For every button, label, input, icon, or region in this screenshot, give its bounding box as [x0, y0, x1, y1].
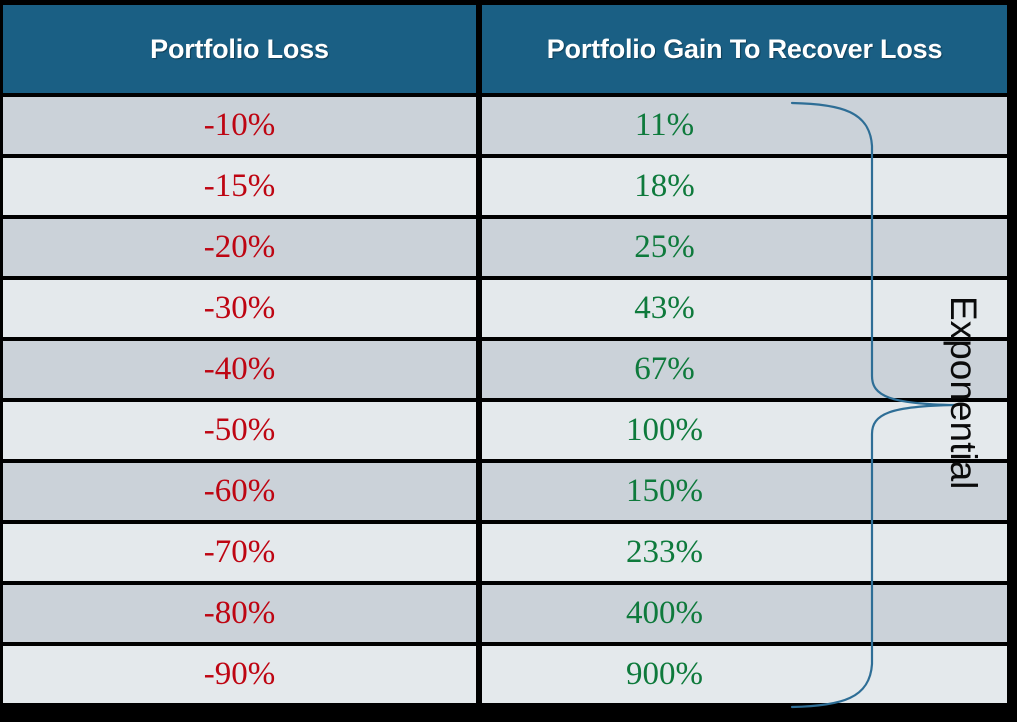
portfolio-loss-value: -40%: [204, 351, 275, 388]
cell-portfolio-gain: 25%: [482, 219, 1007, 276]
table-row: -15%18%: [3, 158, 1007, 215]
portfolio-gain-value: 233%: [626, 534, 703, 571]
portfolio-gain-value: 100%: [626, 412, 703, 449]
table-row: -40%67%: [3, 341, 1007, 398]
column-header-portfolio-gain: Portfolio Gain To Recover Loss: [482, 5, 1007, 93]
cell-portfolio-loss: -30%: [3, 280, 476, 337]
slide-canvas: Portfolio Loss Portfolio Gain To Recover…: [0, 0, 1017, 722]
table-row: -90%900%: [3, 646, 1007, 703]
table-row: -70%233%: [3, 524, 1007, 581]
cell-portfolio-gain: 18%: [482, 158, 1007, 215]
portfolio-gain-value: 150%: [626, 473, 703, 510]
loss-recovery-table: Portfolio Loss Portfolio Gain To Recover…: [3, 5, 1007, 708]
table-row: -60%150%: [3, 463, 1007, 520]
brace-annotation-label: Exponential: [940, 296, 986, 536]
table-row: -20%25%: [3, 219, 1007, 276]
cell-portfolio-gain: 67%: [482, 341, 1007, 398]
cell-portfolio-loss: -90%: [3, 646, 476, 703]
cell-portfolio-gain: 100%: [482, 402, 1007, 459]
cell-portfolio-loss: -80%: [3, 585, 476, 642]
cell-portfolio-loss: -50%: [3, 402, 476, 459]
portfolio-loss-value: -10%: [204, 107, 275, 144]
portfolio-gain-value: 43%: [634, 290, 695, 327]
cell-portfolio-gain: 233%: [482, 524, 1007, 581]
portfolio-gain-value: 900%: [626, 656, 703, 693]
portfolio-loss-value: -15%: [204, 168, 275, 205]
cell-portfolio-loss: -60%: [3, 463, 476, 520]
column-header-portfolio-loss-label: Portfolio Loss: [150, 32, 329, 66]
cell-portfolio-gain: 900%: [482, 646, 1007, 703]
portfolio-gain-value: 67%: [634, 351, 695, 388]
cell-portfolio-loss: -15%: [3, 158, 476, 215]
portfolio-gain-value: 11%: [635, 107, 694, 144]
portfolio-loss-value: -70%: [204, 534, 275, 571]
portfolio-gain-value: 25%: [634, 229, 695, 266]
portfolio-loss-value: -90%: [204, 656, 275, 693]
portfolio-loss-value: -50%: [204, 412, 275, 449]
column-header-portfolio-gain-label: Portfolio Gain To Recover Loss: [547, 32, 943, 66]
portfolio-loss-value: -30%: [204, 290, 275, 327]
table-header-row: Portfolio Loss Portfolio Gain To Recover…: [3, 5, 1007, 93]
table-row: -30%43%: [3, 280, 1007, 337]
table-row: -80%400%: [3, 585, 1007, 642]
cell-portfolio-gain: 43%: [482, 280, 1007, 337]
portfolio-loss-value: -80%: [204, 595, 275, 632]
cell-portfolio-gain: 11%: [482, 97, 1007, 154]
cell-portfolio-gain: 400%: [482, 585, 1007, 642]
column-header-portfolio-loss: Portfolio Loss: [3, 5, 476, 93]
cell-portfolio-loss: -20%: [3, 219, 476, 276]
cell-portfolio-loss: -70%: [3, 524, 476, 581]
table-row: -10%11%: [3, 97, 1007, 154]
portfolio-gain-value: 400%: [626, 595, 703, 632]
portfolio-gain-value: 18%: [634, 168, 695, 205]
cell-portfolio-loss: -10%: [3, 97, 476, 154]
table-row: -50%100%: [3, 402, 1007, 459]
cell-portfolio-gain: 150%: [482, 463, 1007, 520]
cell-portfolio-loss: -40%: [3, 341, 476, 398]
portfolio-loss-value: -60%: [204, 473, 275, 510]
portfolio-loss-value: -20%: [204, 229, 275, 266]
